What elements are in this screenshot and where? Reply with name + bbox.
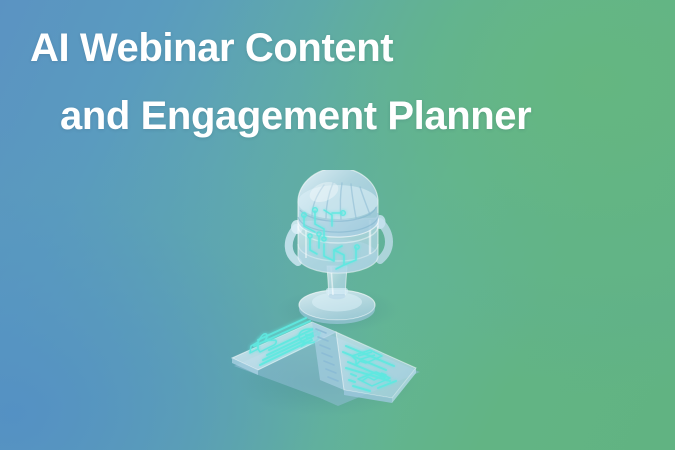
microphone <box>289 170 389 324</box>
title-line-1: AI Webinar Content <box>0 28 675 68</box>
hero-illustration <box>220 170 450 430</box>
microphone-grille-head <box>298 170 378 237</box>
title-card-canvas: AI Webinar Content and Engagement Planne… <box>0 0 675 450</box>
page-title: AI Webinar Content and Engagement Planne… <box>0 28 675 136</box>
title-line-2: and Engagement Planner <box>0 96 675 136</box>
